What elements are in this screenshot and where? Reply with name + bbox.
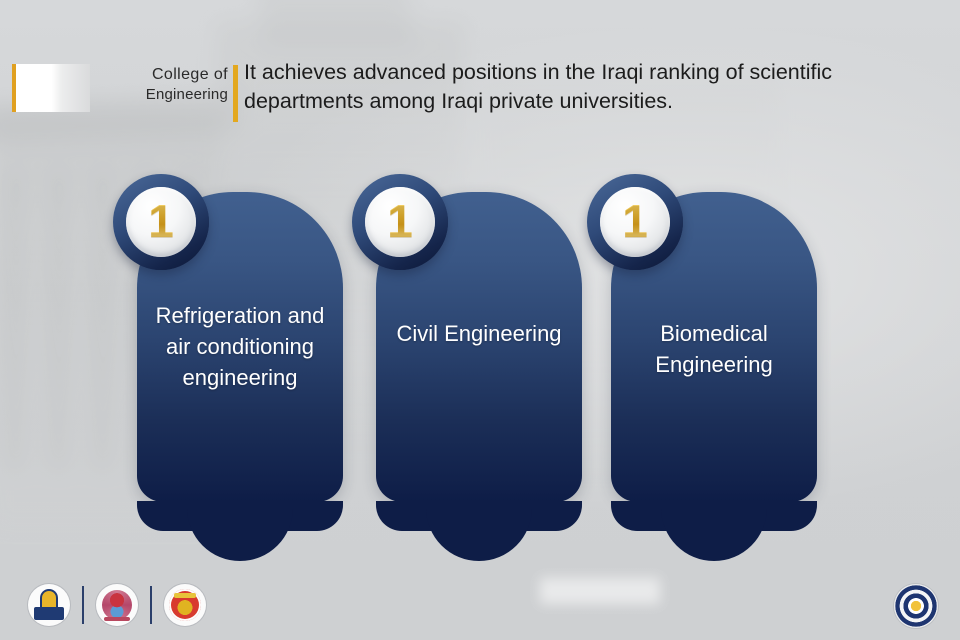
rank-number: 1 [387, 198, 413, 246]
rank-number: 1 [148, 198, 174, 246]
infographic-slide: College of Engineering It achieves advan… [0, 0, 960, 640]
card-label: Biomedical Engineering [621, 318, 807, 380]
accreditation-logo-group [28, 584, 206, 626]
department-card-list: 1 Refrigeration and air conditioning eng… [0, 0, 960, 640]
rank-badge-ring: 1 [587, 174, 683, 270]
footer [0, 570, 960, 640]
rank-badge-inner: 1 [600, 187, 670, 257]
card-body: 1 Civil Engineering [376, 192, 582, 502]
card-label: Refrigeration and air conditioning engin… [147, 300, 333, 394]
university-seal [894, 584, 938, 628]
card-pin-tail [137, 501, 343, 563]
iraqi-engineers-union-seal [164, 584, 206, 626]
footer-divider [82, 586, 84, 624]
department-card-biomedical-engineering[interactable]: 1 Biomedical Engineering [611, 192, 817, 563]
ministry-of-higher-education-seal [28, 584, 70, 626]
card-body: 1 Refrigeration and air conditioning eng… [137, 192, 343, 502]
rank-badge-inner: 1 [365, 187, 435, 257]
department-card-civil-engineering[interactable]: 1 Civil Engineering [376, 192, 582, 563]
rank-badge: 1 [113, 174, 209, 270]
card-label: Civil Engineering [386, 318, 572, 349]
card-pin-tail [376, 501, 582, 563]
rank-badge: 1 [587, 174, 683, 270]
card-pin-tail [611, 501, 817, 563]
department-card-refrigeration-and-air-conditioning-engineering[interactable]: 1 Refrigeration and air conditioning eng… [137, 192, 343, 563]
accreditation-council-seal [96, 584, 138, 626]
rank-badge: 1 [352, 174, 448, 270]
footer-divider [150, 586, 152, 624]
rank-badge-ring: 1 [113, 174, 209, 270]
rank-badge-inner: 1 [126, 187, 196, 257]
card-body: 1 Biomedical Engineering [611, 192, 817, 502]
rank-number: 1 [622, 198, 648, 246]
rank-badge-ring: 1 [352, 174, 448, 270]
